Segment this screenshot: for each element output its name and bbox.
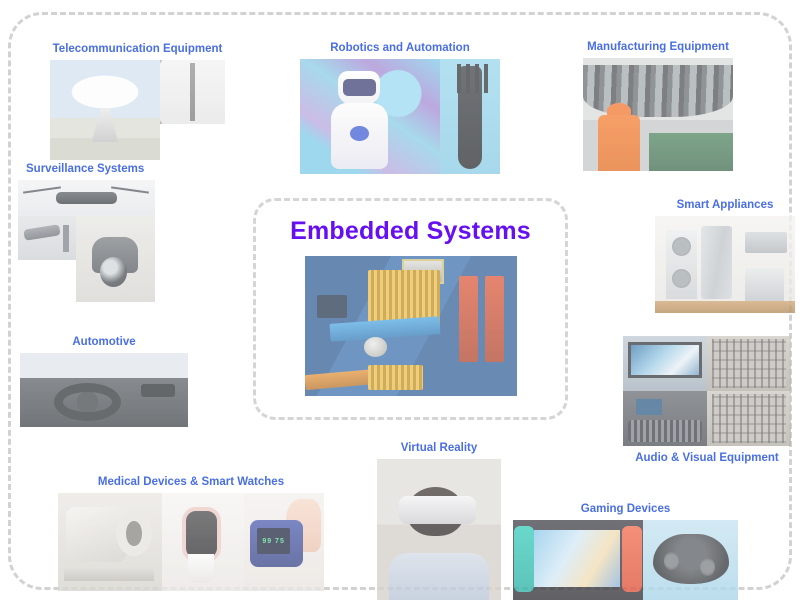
node-label-medical-devices-smart-watches: Medical Devices & Smart Watches bbox=[58, 475, 324, 489]
center-title: Embedded Systems bbox=[290, 217, 531, 246]
media-group-medical-devices-smart-watches: 99 75 bbox=[58, 493, 324, 591]
cctv-camera-photo bbox=[18, 216, 76, 260]
control-room-photo bbox=[623, 391, 707, 446]
media-group-manufacturing-equipment bbox=[583, 58, 733, 171]
center-card[interactable]: Embedded Systems bbox=[253, 198, 568, 420]
node-label-robotics-and-automation: Robotics and Automation bbox=[300, 41, 500, 55]
kitchen-appliances-photo bbox=[655, 216, 795, 313]
node-medical-devices-smart-watches[interactable]: Medical Devices & Smart Watches 99 75 bbox=[58, 475, 324, 591]
node-label-virtual-reality: Virtual Reality bbox=[377, 441, 501, 455]
factory-turbine-worker-photo bbox=[583, 58, 733, 171]
media-group-virtual-reality bbox=[377, 459, 501, 600]
node-label-gaming-devices: Gaming Devices bbox=[513, 502, 738, 516]
auditorium-seats-photo bbox=[707, 391, 791, 446]
node-label-manufacturing-equipment: Manufacturing Equipment bbox=[583, 40, 733, 54]
car-interior-dashboard-photo bbox=[20, 353, 188, 427]
node-surveillance-systems[interactable]: Surveillance Systems bbox=[18, 162, 155, 302]
node-label-smart-appliances: Smart Appliances bbox=[655, 198, 795, 212]
handheld-console-photo bbox=[513, 520, 643, 600]
radiotherapy-machine-photo bbox=[58, 493, 162, 591]
media-group-robotics-and-automation bbox=[300, 59, 500, 174]
drone-photo bbox=[18, 180, 155, 216]
vr-headset-user-photo bbox=[377, 459, 501, 600]
oximeter-readout: 99 75 bbox=[257, 528, 291, 553]
media-group-audio-visual-equipment bbox=[623, 336, 791, 446]
node-manufacturing-equipment[interactable]: Manufacturing Equipment bbox=[583, 40, 733, 171]
node-telecommunication-equipment[interactable]: Telecommunication Equipment bbox=[50, 42, 225, 160]
node-smart-appliances[interactable]: Smart Appliances bbox=[655, 198, 795, 313]
media-group-center bbox=[305, 256, 517, 396]
node-robotics-and-automation[interactable]: Robotics and Automation bbox=[300, 41, 500, 174]
cell-tower-photo bbox=[160, 60, 225, 124]
media-group-smart-appliances bbox=[655, 216, 795, 313]
node-label-surveillance-systems: Surveillance Systems bbox=[18, 162, 155, 176]
media-group-automotive bbox=[20, 353, 188, 427]
node-label-automotive: Automotive bbox=[20, 335, 188, 349]
smart-watch-photo bbox=[162, 493, 244, 591]
media-group-surveillance-systems bbox=[18, 180, 155, 302]
mixing-console-photo bbox=[707, 336, 791, 391]
node-virtual-reality[interactable]: Virtual Reality bbox=[377, 441, 501, 600]
humanoid-robot-photo bbox=[300, 59, 440, 174]
media-group-telecommunication-equipment bbox=[50, 60, 225, 160]
circuit-board-motherboard-photo bbox=[305, 256, 517, 396]
robotic-hand-photo bbox=[440, 59, 500, 174]
node-audio-visual-equipment[interactable]: Audio & Visual Equipment bbox=[623, 336, 791, 469]
pulse-oximeter-photo: 99 75 bbox=[244, 493, 324, 591]
diagram-canvas: Telecommunication Equipment Robotics and… bbox=[0, 0, 800, 600]
game-controller-photo bbox=[643, 520, 738, 600]
dome-camera-photo bbox=[76, 216, 155, 302]
node-label-telecommunication-equipment: Telecommunication Equipment bbox=[50, 42, 225, 56]
television-photo bbox=[623, 336, 707, 391]
media-group-gaming-devices bbox=[513, 520, 738, 600]
node-label-audio-visual-equipment: Audio & Visual Equipment bbox=[623, 451, 791, 465]
node-automotive[interactable]: Automotive bbox=[20, 335, 188, 427]
node-gaming-devices[interactable]: Gaming Devices bbox=[513, 502, 738, 600]
satellite-dish-photo bbox=[50, 60, 160, 160]
